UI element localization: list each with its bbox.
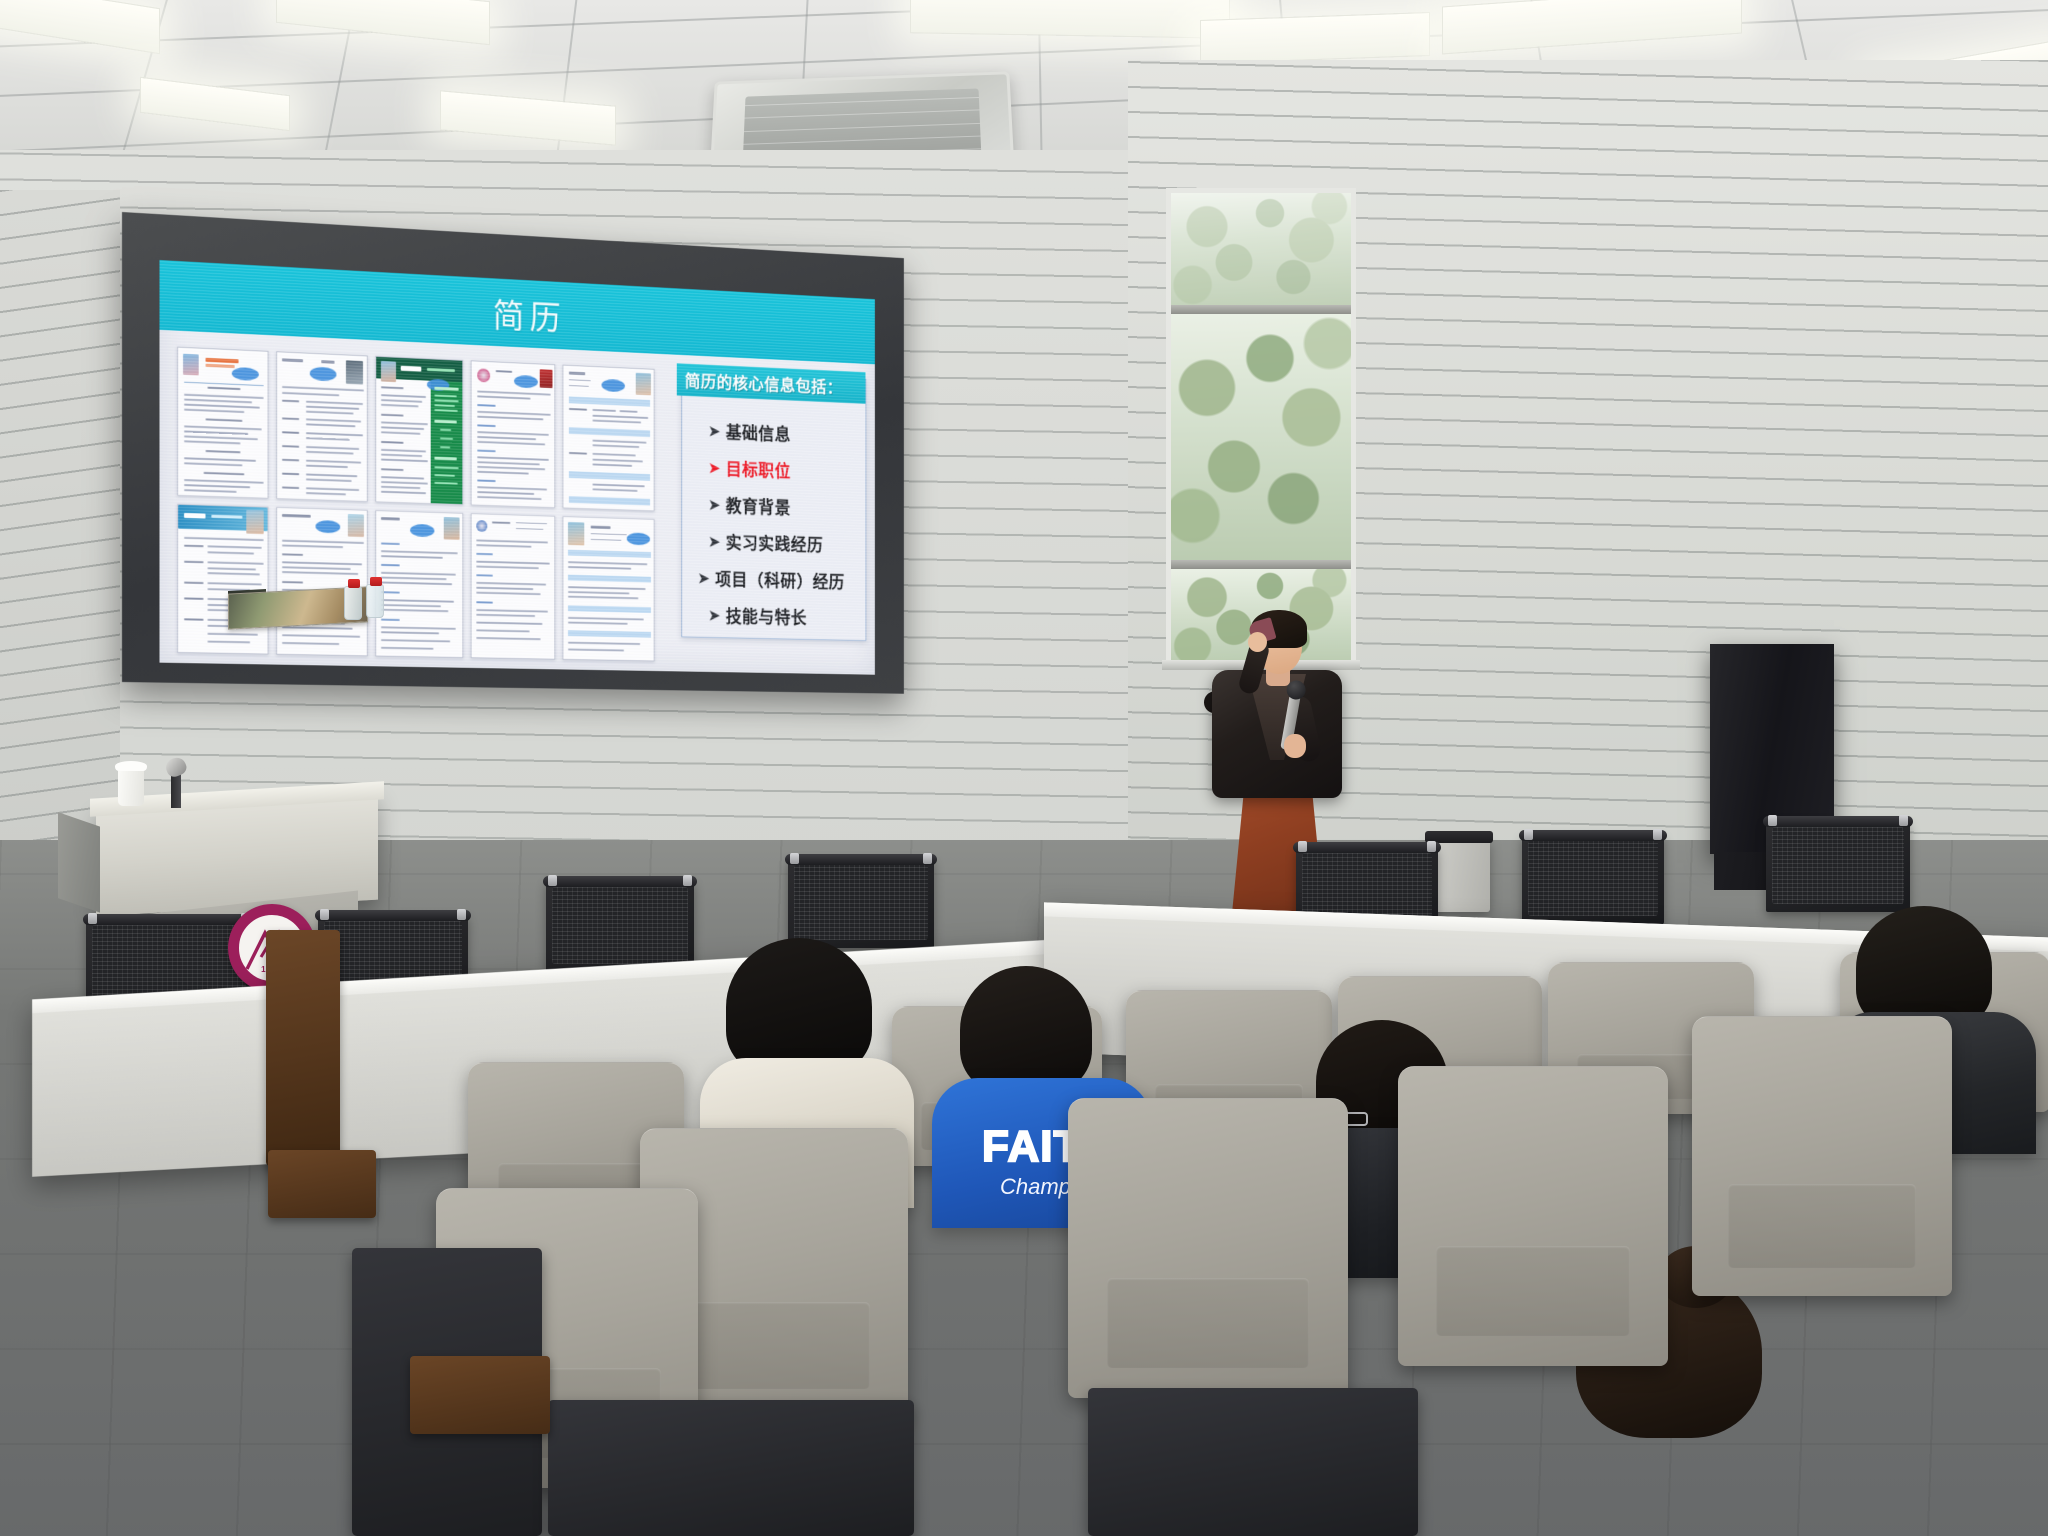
chair-top-rail (1293, 842, 1441, 853)
id-photo (346, 360, 363, 384)
resume-thumbnail (375, 510, 463, 658)
bullet-label: 项目（科研）经历 (715, 566, 845, 594)
seat-pocket (1436, 1246, 1630, 1336)
presenter-right-hand (1284, 734, 1306, 758)
mesh-chair[interactable] (1522, 834, 1664, 924)
bullet-label: 基础信息 (726, 419, 791, 446)
bullet-arrow-icon: ➤ (709, 459, 721, 476)
id-photo (540, 369, 553, 388)
ceiling-light-panel (1200, 12, 1430, 64)
id-photo (183, 354, 199, 376)
chair-knob (320, 909, 329, 920)
presenter-left-hand (1248, 632, 1267, 652)
seat-back-frame (1088, 1388, 1418, 1536)
mesh-chair[interactable] (546, 880, 694, 972)
bullet-item: ➤ 实习实践经历 (709, 523, 859, 564)
auditorium-seat[interactable] (1692, 1016, 1952, 1296)
chair-knob (88, 913, 97, 924)
callout-header: 简历的核心信息包括： (677, 363, 866, 404)
id-photo (348, 514, 364, 537)
lecture-hall-photo: 简历 (0, 0, 2048, 1536)
chair-top-rail (315, 910, 471, 921)
resume-thumbnail (471, 513, 556, 660)
resume-thumbnail (563, 365, 655, 512)
seat-back-frame (548, 1400, 914, 1536)
bullet-label: 目标职位 (726, 456, 791, 483)
chair-knob (923, 853, 932, 864)
desk-microphone[interactable] (171, 772, 181, 808)
seat-pocket (678, 1302, 871, 1389)
window-pane-middle (1171, 314, 1351, 560)
resume-thumbnail (375, 356, 463, 505)
hair (960, 966, 1092, 1094)
mesh-chair[interactable] (1766, 820, 1910, 912)
chair-knob (457, 909, 466, 920)
chair-top-rail (785, 854, 937, 865)
chair-top-rail (83, 914, 255, 925)
window-mullion (1171, 560, 1351, 569)
chair-mesh-panel (1772, 827, 1904, 904)
water-bottle[interactable] (344, 586, 362, 620)
mesh-chair[interactable] (788, 858, 934, 948)
bullet-arrow-icon: ➤ (709, 496, 721, 513)
hair (726, 938, 872, 1076)
chair-mesh-panel (552, 887, 688, 964)
chair-mesh-panel (794, 865, 928, 940)
bullet-item: ➤ 教育背景 (709, 486, 859, 528)
seat-armrest (266, 930, 340, 1166)
seat-headrest (1692, 1016, 1952, 1296)
window-pane-top (1171, 193, 1351, 305)
bullet-arrow-icon: ➤ (698, 569, 710, 586)
cup-lid (115, 761, 147, 771)
auditorium-seat[interactable] (1068, 1098, 1348, 1398)
bullet-item: ➤ 技能与特长 (709, 596, 859, 636)
bullet-label: 实习实践经历 (726, 529, 823, 556)
slide-callout-box: 简历的核心信息包括： ➤ 基础信息 ➤ 目标职位 ➤ 教育背景 (681, 370, 866, 641)
callout-bullet-list: ➤ 基础信息 ➤ 目标职位 ➤ 教育背景 ➤ 实习实践经历 (709, 412, 859, 636)
bullet-arrow-icon: ➤ (709, 422, 721, 439)
ceiling-light-panel (910, 0, 1230, 39)
paper-coffee-cup[interactable] (118, 768, 144, 806)
resume-thumbnail (276, 351, 368, 502)
resume-thumbnail (471, 360, 556, 508)
seat-headrest (1068, 1098, 1348, 1398)
chair-knob (790, 853, 799, 864)
id-photo (381, 361, 396, 382)
resume-thumbnail (177, 504, 268, 655)
chair-knob (683, 875, 692, 886)
resume-thumbnail (563, 516, 655, 661)
chair-knob (1524, 829, 1533, 840)
chair-top-rail (543, 876, 697, 887)
slide-title: 简历 (493, 288, 566, 339)
id-photo (246, 510, 263, 534)
bullet-label: 教育背景 (726, 492, 791, 519)
seat-pocket (1728, 1184, 1915, 1268)
chair-knob (1899, 815, 1908, 826)
id-photo (444, 517, 460, 540)
bullet-item: ➤ 基础信息 (709, 412, 859, 455)
lectern-side-panel (58, 812, 100, 912)
seat-pocket (1107, 1278, 1309, 1368)
bottle-cap (348, 579, 360, 588)
tree-foliage (1171, 314, 1351, 560)
chair-knob (1298, 841, 1307, 852)
chair-knob (1653, 829, 1662, 840)
chair-knob (1768, 815, 1777, 826)
resume-thumbnail (177, 347, 268, 499)
chair-top-rail (1763, 816, 1913, 827)
bullet-arrow-icon: ➤ (709, 533, 721, 550)
window-mullion (1171, 305, 1351, 314)
seat-armrest (410, 1356, 550, 1434)
chair-mesh-panel (1528, 841, 1658, 916)
institution-stamp (477, 368, 490, 382)
id-photo (636, 373, 651, 396)
chair-knob (1427, 841, 1436, 852)
chair-top-rail (1519, 830, 1667, 841)
bullet-arrow-icon: ➤ (709, 606, 721, 623)
bullet-item-highlighted: ➤ 目标职位 (709, 449, 859, 491)
lectern (96, 792, 378, 917)
bullet-item: ➤ 项目（科研）经历 (698, 559, 858, 600)
callout-header-text: 简历的核心信息包括： (685, 368, 842, 399)
id-photo (568, 522, 584, 545)
window (1166, 188, 1356, 668)
bottle-cap (370, 577, 382, 586)
chair-knob (548, 875, 557, 886)
seat-armrest (268, 1150, 376, 1218)
bullet-label: 技能与特长 (726, 603, 807, 629)
water-bottle[interactable] (366, 584, 384, 618)
institution-stamp (476, 520, 487, 532)
